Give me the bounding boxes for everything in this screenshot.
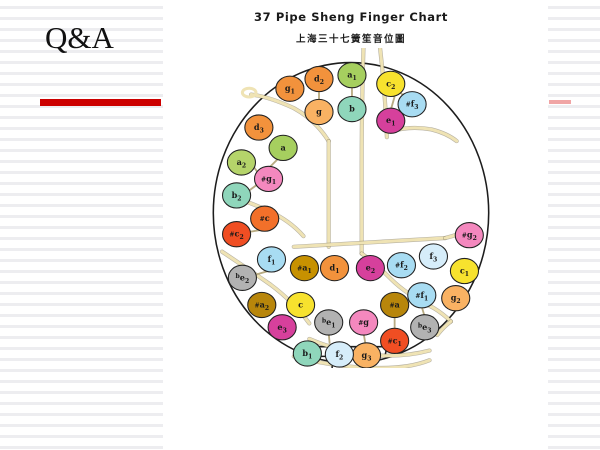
pipe-node-sharp-c1[interactable]: #c1 bbox=[381, 328, 409, 353]
pipe-node-sharp-g1[interactable]: #g1 bbox=[255, 166, 283, 191]
pipe-node-d1[interactable]: d1 bbox=[320, 256, 348, 281]
pipe-node-c1[interactable]: c1 bbox=[450, 258, 478, 283]
pipe-node-f1[interactable]: f1 bbox=[257, 247, 285, 272]
pipe-node-g[interactable]: g bbox=[305, 99, 333, 124]
page-title: Q&A bbox=[45, 18, 165, 58]
pipe-node-d3[interactable]: d3 bbox=[245, 115, 273, 140]
pipe-node-sharp-c[interactable]: #c bbox=[251, 206, 279, 231]
pipe-circle bbox=[305, 66, 333, 91]
pipe-node-sharp-g2[interactable]: #g2 bbox=[455, 223, 483, 248]
pipe-node-sharp-a1[interactable]: #a1 bbox=[290, 256, 318, 281]
pipe-circle bbox=[228, 265, 256, 290]
pipe-node-sharp-g[interactable]: #g bbox=[350, 310, 378, 335]
pipe-circle bbox=[305, 99, 333, 124]
pipe-node-a2[interactable]: a2 bbox=[227, 150, 255, 175]
chart-subtitle: 上海三十七簧笙音位圖 bbox=[196, 31, 506, 45]
title-accent-rule bbox=[40, 99, 161, 106]
slide-title-block: Q&A bbox=[45, 18, 165, 58]
pipe-node-flat-e1[interactable]: be1 bbox=[315, 310, 343, 335]
pipe-circle bbox=[245, 115, 273, 140]
pipe-circle bbox=[387, 253, 415, 278]
pipe-circle bbox=[352, 343, 380, 368]
pipe-node-g1[interactable]: g1 bbox=[276, 76, 304, 101]
pipe-circle bbox=[381, 292, 409, 317]
pipe-circle bbox=[408, 283, 436, 308]
pipe-node-flat-[interactable]: b bbox=[338, 96, 366, 121]
pipe-circle bbox=[411, 315, 439, 340]
pipe-node-flat-e3[interactable]: be3 bbox=[411, 315, 439, 340]
pipe-circle bbox=[338, 63, 366, 88]
pipe-node-g3[interactable]: g3 bbox=[352, 343, 380, 368]
pipe-node-f2[interactable]: f2 bbox=[325, 342, 353, 367]
pipe-circle bbox=[325, 342, 353, 367]
pipe-node-e1[interactable]: e1 bbox=[377, 108, 405, 133]
pipe-circle bbox=[377, 108, 405, 133]
pipe-circle bbox=[223, 222, 251, 247]
pipe-node-f3[interactable]: f3 bbox=[419, 244, 447, 269]
pipe-circle bbox=[248, 292, 276, 317]
pipe-node-e2[interactable]: e2 bbox=[356, 256, 384, 281]
pipe-circle bbox=[381, 328, 409, 353]
right-accent-rule bbox=[549, 100, 571, 104]
pipe-circle bbox=[255, 166, 283, 191]
pipe-node-d2[interactable]: d2 bbox=[305, 66, 333, 91]
pipe-circle bbox=[293, 341, 321, 366]
pipe-circle bbox=[338, 96, 366, 121]
pipe-node-sharp-a[interactable]: #a bbox=[381, 292, 409, 317]
pipe-circle bbox=[356, 256, 384, 281]
pipe-node-flat-e2[interactable]: be2 bbox=[228, 265, 256, 290]
pipe-circle bbox=[320, 256, 348, 281]
pipe-node-c2[interactable]: c2 bbox=[377, 71, 405, 96]
pipe-node-flat-2[interactable]: b2 bbox=[223, 183, 251, 208]
pipe-node-sharp-f1[interactable]: #f1 bbox=[408, 283, 436, 308]
pipe-node-a[interactable]: a bbox=[269, 135, 297, 160]
pipe-circle bbox=[268, 315, 296, 340]
pipe-circle bbox=[455, 223, 483, 248]
pipe-circle bbox=[287, 292, 315, 317]
pipe-node-e3[interactable]: e3 bbox=[268, 315, 296, 340]
pipe-circle bbox=[350, 310, 378, 335]
pipe-node-flat-1[interactable]: b1 bbox=[293, 341, 321, 366]
pipe-circle bbox=[442, 286, 470, 311]
pipe-circle bbox=[419, 244, 447, 269]
pipe-circle bbox=[269, 135, 297, 160]
pipe-circle bbox=[257, 247, 285, 272]
pipe-node-sharp-f2[interactable]: #f2 bbox=[387, 253, 415, 278]
sheng-finger-chart-diagram: g1d2ga1bc2#f3e1d3aa2#g1b2#c#c2f1be2#a2e3… bbox=[196, 48, 506, 368]
pipe-circle bbox=[276, 76, 304, 101]
pipe-node-sharp-a2[interactable]: #a2 bbox=[248, 292, 276, 317]
pipe-node-sharp-c2[interactable]: #c2 bbox=[223, 222, 251, 247]
pipe-circle bbox=[223, 183, 251, 208]
pipe-node-g2[interactable]: g2 bbox=[442, 286, 470, 311]
pipe-circle bbox=[251, 206, 279, 231]
pipe-circle bbox=[450, 258, 478, 283]
pipe-node-a1[interactable]: a1 bbox=[338, 63, 366, 88]
pipe-circle bbox=[227, 150, 255, 175]
chart-title: 37 Pipe Sheng Finger Chart bbox=[196, 10, 506, 24]
pipe-circle bbox=[290, 256, 318, 281]
pipe-node-c[interactable]: c bbox=[287, 292, 315, 317]
pipe-circle bbox=[377, 71, 405, 96]
pipe-circle bbox=[315, 310, 343, 335]
